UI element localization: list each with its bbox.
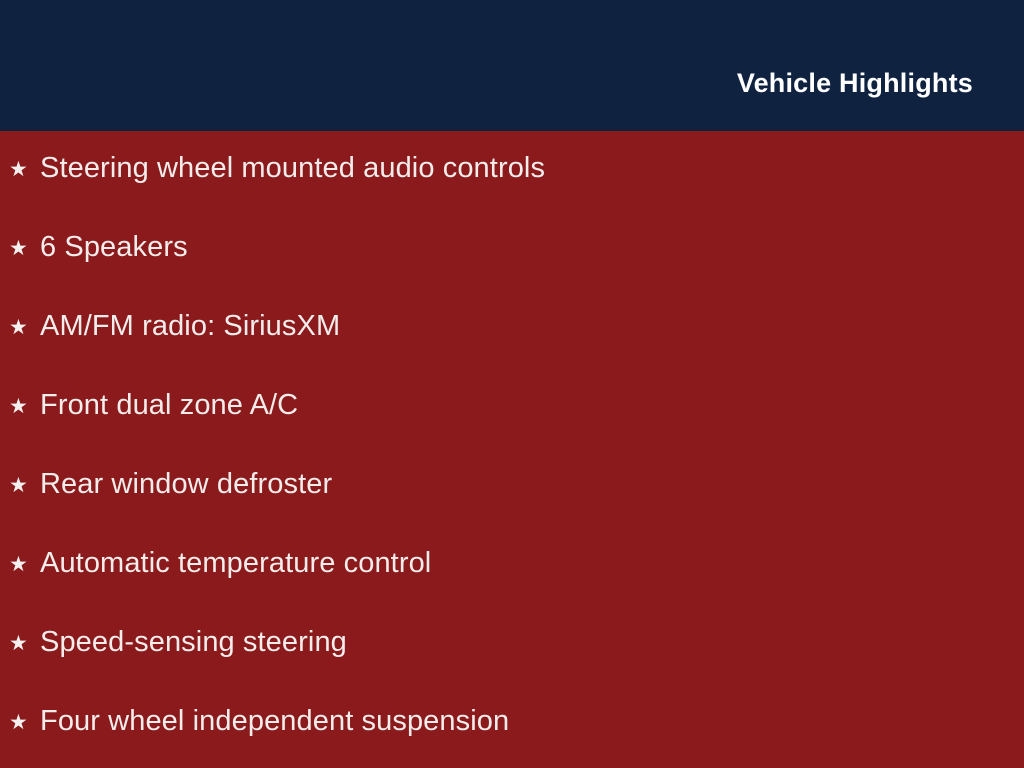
slide-canvas: Vehicle Highlights ★ Steering wheel moun… — [0, 0, 1024, 768]
star-icon: ★ — [9, 396, 40, 417]
page-title: Vehicle Highlights — [737, 18, 973, 149]
list-item: ★ AM/FM radio: SiriusXM — [0, 305, 1024, 349]
list-item: ★ Rear window defroster — [0, 463, 1024, 507]
vehicle-highlights-list: ★ Steering wheel mounted audio controls … — [0, 131, 1024, 768]
list-item-label: Speed-sensing steering — [40, 627, 347, 659]
list-item: ★ Front dual zone A/C — [0, 384, 1024, 428]
star-icon: ★ — [9, 238, 40, 259]
list-item: ★ 6 Speakers — [0, 226, 1024, 270]
list-item: ★ Steering wheel mounted audio controls — [0, 147, 1024, 191]
list-item: ★ Automatic temperature control — [0, 542, 1024, 586]
list-item-label: Steering wheel mounted audio controls — [40, 153, 545, 185]
star-icon: ★ — [9, 554, 40, 575]
star-icon: ★ — [9, 317, 40, 338]
list-item-label: 6 Speakers — [40, 232, 188, 264]
list-item: ★ Speed-sensing steering — [0, 621, 1024, 665]
star-icon: ★ — [9, 712, 40, 733]
list-item-label: Front dual zone A/C — [40, 390, 298, 422]
list-item-label: AM/FM radio: SiriusXM — [40, 311, 340, 343]
list-item-label: Automatic temperature control — [40, 548, 431, 580]
list-item: ★ Four wheel independent suspension — [0, 700, 1024, 744]
list-item-label: Four wheel independent suspension — [40, 706, 509, 738]
star-icon: ★ — [9, 159, 40, 180]
star-icon: ★ — [9, 475, 40, 496]
star-icon: ★ — [9, 633, 40, 654]
list-item-label: Rear window defroster — [40, 469, 332, 501]
slide-header-band: Vehicle Highlights — [0, 0, 1024, 131]
